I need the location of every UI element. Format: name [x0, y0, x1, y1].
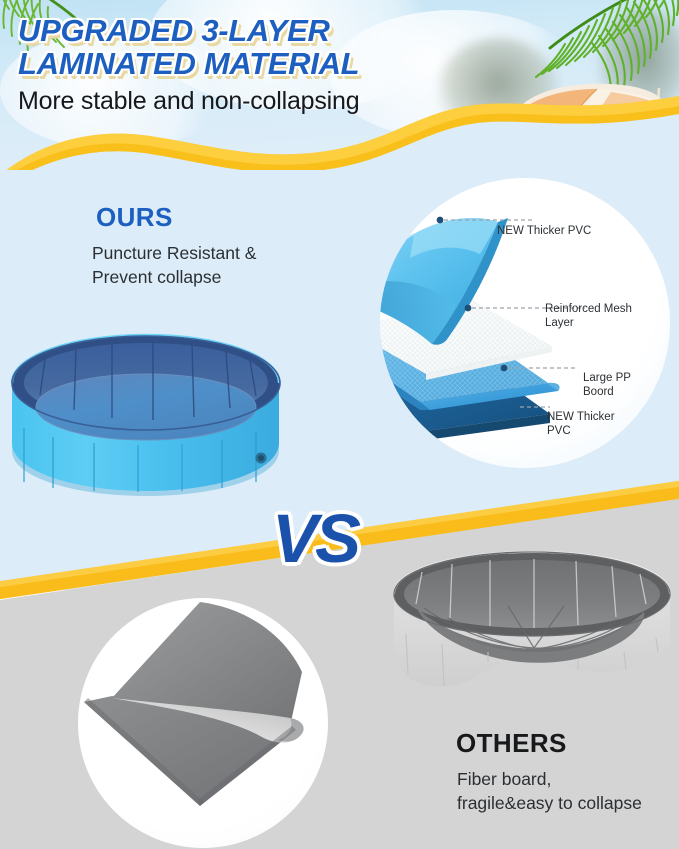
gray-collapsing-pool-illustration [388, 548, 676, 708]
header-banner: UPGRADED 3-LAYER LAMINATED MATERIAL More… [0, 0, 679, 172]
others-heading: OTHERS [456, 728, 567, 759]
header-title-line-1: UPGRADED 3-LAYER [18, 14, 488, 47]
vs-badge: VS [272, 500, 380, 578]
infographic-page: UPGRADED 3-LAYER LAMINATED MATERIAL More… [0, 0, 679, 849]
layer-label-reinforced-mesh-layer: Reinforced Mesh Layer [545, 303, 632, 330]
ours-heading: OURS [96, 202, 173, 233]
peeling-fiber-board-illustration [78, 598, 328, 848]
gray-material-circle [78, 598, 328, 848]
layer-label-new-thicker-pvc-top: NEW Thicker PVC [497, 225, 591, 239]
layer-label-large-pp-board: Large PP Boord [583, 372, 631, 399]
others-description: Fiber board, fragile&easy to collapse [457, 768, 652, 815]
header-title-line-2: LAMINATED MATERIAL [18, 47, 488, 80]
layer-label-new-thicker-pvc-bottom: NEW Thicker PVC [547, 411, 615, 438]
header-title-block: UPGRADED 3-LAYER LAMINATED MATERIAL More… [18, 14, 488, 115]
header-subtitle: More stable and non-collapsing [18, 87, 488, 115]
ours-description: Puncture Resistant & Prevent collapse [92, 242, 297, 289]
